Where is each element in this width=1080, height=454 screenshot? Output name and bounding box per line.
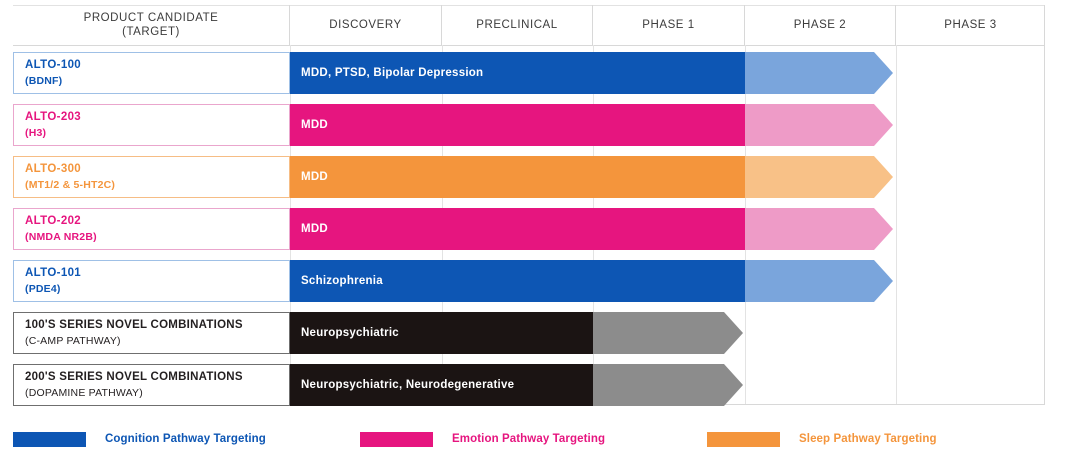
pipeline-chart: PRODUCT CANDIDATE (TARGET) DISCOVERY PRE… xyxy=(0,0,1080,454)
legend-item: Sleep Pathway Targeting xyxy=(707,429,937,449)
table-row: 200'S SERIES NOVEL COMBINATIONS(DOPAMINE… xyxy=(13,364,1045,406)
column-header-product-candidate: PRODUCT CANDIDATE (TARGET) xyxy=(13,5,290,45)
pipeline-bar-arrow-segment xyxy=(593,364,743,406)
product-candidate-target: (C-AMP PATHWAY) xyxy=(25,334,289,348)
product-candidate-cell: ALTO-202(NMDA NR2B) xyxy=(13,208,290,250)
product-candidate-cell: ALTO-203(H3) xyxy=(13,104,290,146)
table-row: ALTO-101(PDE4)Schizophrenia xyxy=(13,260,1045,302)
pipeline-bar: Neuropsychiatric, Neurodegenerative xyxy=(290,364,743,406)
product-candidate-name: ALTO-100 xyxy=(25,58,289,74)
pipeline-bar-indication: MDD xyxy=(290,208,745,250)
product-candidate-name: ALTO-300 xyxy=(25,162,289,178)
pipeline-bar-indication: MDD, PTSD, Bipolar Depression xyxy=(290,52,745,94)
table-header-row: PRODUCT CANDIDATE (TARGET) DISCOVERY PRE… xyxy=(13,5,1045,45)
pipeline-bar: MDD, PTSD, Bipolar Depression xyxy=(290,52,893,94)
product-candidate-name: 200'S SERIES NOVEL COMBINATIONS xyxy=(25,370,289,386)
legend-label: Sleep Pathway Targeting xyxy=(799,433,937,445)
pipeline-bar: Schizophrenia xyxy=(290,260,893,302)
pipeline-bar-indication: Schizophrenia xyxy=(290,260,745,302)
column-header-preclinical: PRECLINICAL xyxy=(442,5,593,45)
product-candidate-cell: 100'S SERIES NOVEL COMBINATIONS(C-AMP PA… xyxy=(13,312,290,354)
legend-color-swatch xyxy=(360,432,433,447)
legend-label: Emotion Pathway Targeting xyxy=(452,433,605,445)
table-row: ALTO-300(MT1/2 & 5-HT2C)MDD xyxy=(13,156,1045,198)
pipeline-bar: MDD xyxy=(290,156,893,198)
header-underline xyxy=(13,45,1045,46)
pipeline-bar-indication: MDD xyxy=(290,104,745,146)
product-candidate-name: 100'S SERIES NOVEL COMBINATIONS xyxy=(25,318,289,334)
legend-color-swatch xyxy=(707,432,780,447)
table-row: ALTO-203(H3)MDD xyxy=(13,104,1045,146)
legend-label: Cognition Pathway Targeting xyxy=(105,433,266,445)
product-candidate-name: ALTO-101 xyxy=(25,266,289,282)
pipeline-legend: Cognition Pathway TargetingEmotion Pathw… xyxy=(13,429,1045,449)
column-header-product-candidate-line2: (TARGET) xyxy=(84,25,219,39)
pipeline-bar: MDD xyxy=(290,104,893,146)
column-header-phase-1: PHASE 1 xyxy=(593,5,745,45)
product-candidate-target: (BDNF) xyxy=(25,74,289,88)
product-candidate-name: ALTO-202 xyxy=(25,214,289,230)
pipeline-bar: Neuropsychiatric xyxy=(290,312,743,354)
pipeline-bar: MDD xyxy=(290,208,893,250)
column-header-phase-3: PHASE 3 xyxy=(896,5,1045,45)
pipeline-bar-arrow-segment xyxy=(745,208,893,250)
pipeline-bar-indication: MDD xyxy=(290,156,745,198)
product-candidate-name: ALTO-203 xyxy=(25,110,289,126)
product-candidate-target: (MT1/2 & 5-HT2C) xyxy=(25,178,289,192)
table-row: ALTO-100(BDNF)MDD, PTSD, Bipolar Depress… xyxy=(13,52,1045,94)
pipeline-bar-arrow-segment xyxy=(745,104,893,146)
pipeline-bar-arrow-segment xyxy=(745,156,893,198)
product-candidate-cell: ALTO-300(MT1/2 & 5-HT2C) xyxy=(13,156,290,198)
pipeline-bar-arrow-segment xyxy=(745,260,893,302)
product-candidate-cell: ALTO-100(BDNF) xyxy=(13,52,290,94)
pipeline-bar-indication: Neuropsychiatric, Neurodegenerative xyxy=(290,364,593,406)
legend-item: Cognition Pathway Targeting xyxy=(13,429,266,449)
product-candidate-target: (H3) xyxy=(25,126,289,140)
pipeline-bar-indication: Neuropsychiatric xyxy=(290,312,593,354)
column-header-discovery: DISCOVERY xyxy=(290,5,442,45)
product-candidate-cell: 200'S SERIES NOVEL COMBINATIONS(DOPAMINE… xyxy=(13,364,290,406)
product-candidate-target: (NMDA NR2B) xyxy=(25,230,289,244)
product-candidate-target: (PDE4) xyxy=(25,282,289,296)
column-header-product-candidate-line1: PRODUCT CANDIDATE xyxy=(84,11,219,25)
product-candidate-target: (DOPAMINE PATHWAY) xyxy=(25,386,289,400)
product-candidate-cell: ALTO-101(PDE4) xyxy=(13,260,290,302)
column-header-phase-2: PHASE 2 xyxy=(745,5,896,45)
pipeline-bar-arrow-segment xyxy=(593,312,743,354)
table-row: 100'S SERIES NOVEL COMBINATIONS(C-AMP PA… xyxy=(13,312,1045,354)
legend-color-swatch xyxy=(13,432,86,447)
legend-item: Emotion Pathway Targeting xyxy=(360,429,605,449)
table-row: ALTO-202(NMDA NR2B)MDD xyxy=(13,208,1045,250)
pipeline-bar-arrow-segment xyxy=(745,52,893,94)
